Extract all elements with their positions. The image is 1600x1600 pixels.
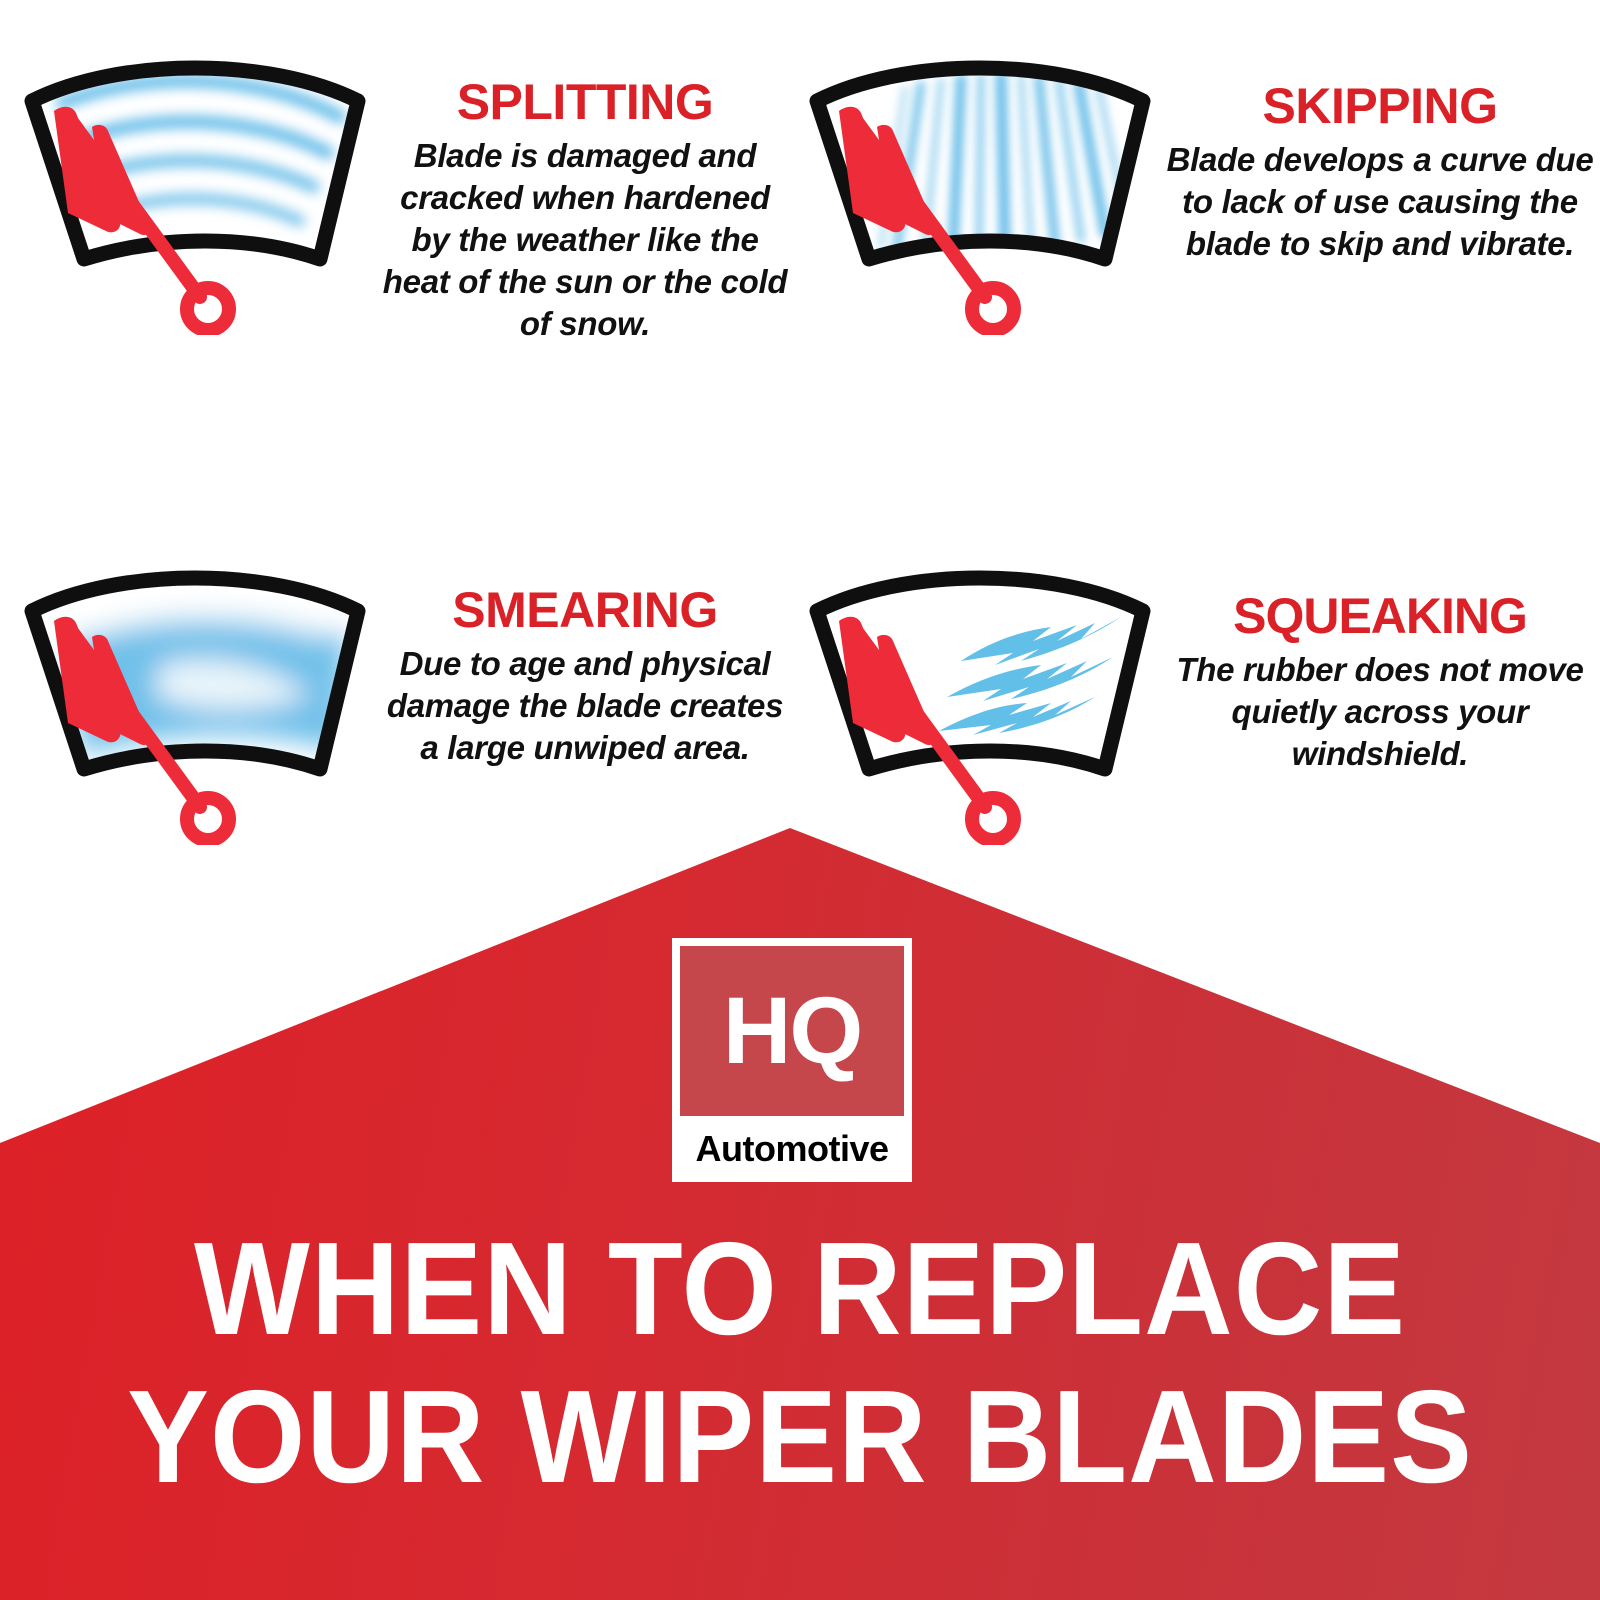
hq-automotive-logo: HQ Automotive xyxy=(672,938,912,1182)
panel-skipping-description: Blade develops a curve due to lack of us… xyxy=(1165,139,1595,265)
panel-splitting-title: SPLITTING xyxy=(380,77,790,127)
panel-squeaking-title: SQUEAKING xyxy=(1165,591,1595,641)
logo-mark-text: HQ xyxy=(723,984,862,1079)
panel-squeaking-text: SQUEAKING The rubber does not move quiet… xyxy=(1165,545,1595,775)
panel-skipping: SKIPPING Blade develops a curve due to l… xyxy=(795,35,1595,335)
panel-smearing: SMEARING Due to age and physical damage … xyxy=(10,545,790,845)
page-title-line-1: WHEN TO REPLACE xyxy=(56,1215,1544,1363)
windshield-wiper-arcs-icon xyxy=(10,35,380,335)
panel-skipping-text: SKIPPING Blade develops a curve due to l… xyxy=(1165,35,1595,265)
panel-squeaking-description: The rubber does not move quietly across … xyxy=(1165,649,1595,775)
panel-splitting: SPLITTING Blade is damaged and cracked w… xyxy=(10,35,790,345)
logo-mark-box: HQ xyxy=(680,946,904,1116)
logo-wordmark: Automotive xyxy=(680,1116,904,1182)
windshield-wiper-smear-icon xyxy=(10,545,380,845)
windshield-wiper-zigzag-icon xyxy=(795,545,1165,845)
panel-smearing-description: Due to age and physical damage the blade… xyxy=(380,643,790,769)
panel-smearing-title: SMEARING xyxy=(380,585,790,635)
page-title: WHEN TO REPLACE YOUR WIPER BLADES xyxy=(0,1215,1600,1511)
panel-skipping-title: SKIPPING xyxy=(1165,81,1595,131)
panel-squeaking: SQUEAKING The rubber does not move quiet… xyxy=(795,545,1595,845)
windshield-wiper-streaks-icon xyxy=(795,35,1165,335)
panel-smearing-text: SMEARING Due to age and physical damage … xyxy=(380,545,790,769)
panel-splitting-text: SPLITTING Blade is damaged and cracked w… xyxy=(380,35,790,345)
symptom-panel-grid: SPLITTING Blade is damaged and cracked w… xyxy=(0,0,1600,840)
page-title-line-2: YOUR WIPER BLADES xyxy=(56,1363,1544,1511)
panel-splitting-description: Blade is damaged and cracked when harden… xyxy=(380,135,790,345)
